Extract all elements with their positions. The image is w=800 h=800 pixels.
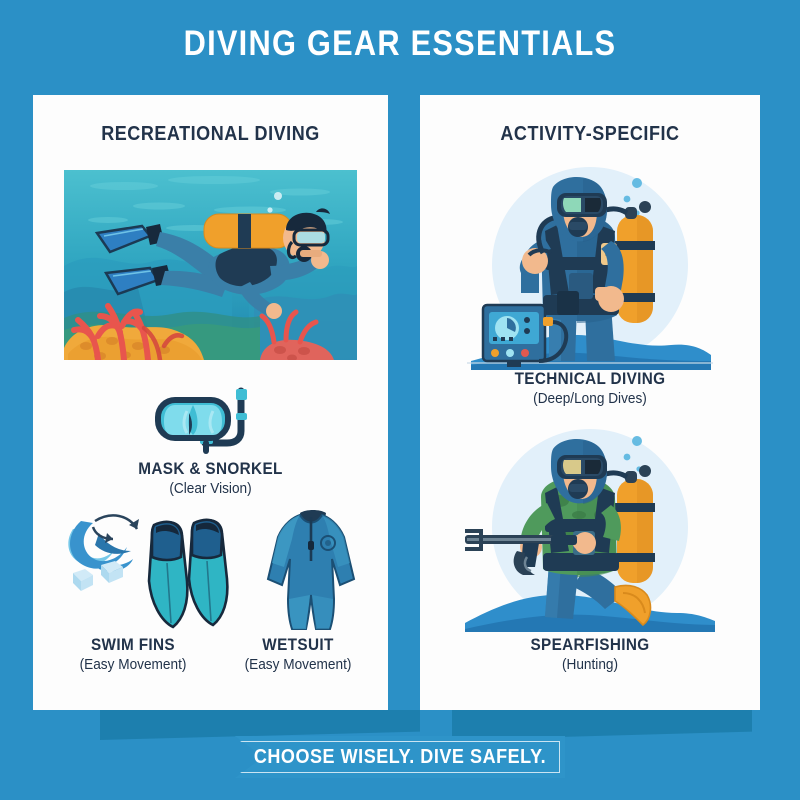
spearfishing-diver-illustration (465, 427, 715, 632)
spearfishing-subtitle: (Hunting) (430, 657, 750, 673)
mask-snorkel-subtitle: (Clear Vision) (44, 481, 378, 497)
footer-ribbon: CHOOSE WISELY. DIVE SAFELY. (235, 736, 565, 778)
recreational-diving-card: RECREATIONAL DIVING (33, 95, 388, 710)
swim-fins-label: SWIM FINS (Easy Movement) (43, 635, 223, 673)
wetsuit-icon (258, 503, 368, 631)
wetsuit-subtitle: (Easy Movement) (228, 657, 369, 673)
technical-diving-subtitle: (Deep/Long Dives) (430, 391, 750, 407)
technical-diving-label: TECHNICAL DIVING (Deep/Long Dives) (420, 369, 760, 407)
left-section-header: RECREATIONAL DIVING (51, 123, 371, 146)
swim-fins-subtitle: (Easy Movement) (48, 657, 217, 673)
activity-specific-card: ACTIVITY-SPECIFIC (420, 95, 760, 710)
right-section-header: ACTIVITY-SPECIFIC (437, 123, 743, 146)
spearfishing-title: SPEARFISHING (437, 635, 743, 655)
swim-fins-title: SWIM FINS (52, 635, 214, 655)
wetsuit-title: WETSUIT (231, 635, 366, 655)
wetsuit-label: WETSUIT (Easy Movement) (223, 635, 373, 673)
technical-diver-illustration (465, 165, 715, 370)
ribbon-text: CHOOSE WISELY. DIVE SAFELY. (252, 736, 549, 778)
infographic-root: DIVING GEAR ESSENTIALS RECREATIONAL DIVI… (0, 0, 800, 800)
mask-snorkel-label: MASK & SNORKEL (Clear Vision) (33, 459, 388, 497)
page-title: DIVING GEAR ESSENTIALS (48, 24, 752, 64)
mask-snorkel-icon (143, 383, 278, 455)
underwater-scene-illustration (64, 170, 357, 360)
technical-diving-title: TECHNICAL DIVING (437, 369, 743, 389)
swim-fins-icon (55, 503, 235, 631)
mask-snorkel-title: MASK & SNORKEL (51, 459, 371, 479)
spearfishing-label: SPEARFISHING (Hunting) (420, 635, 760, 673)
